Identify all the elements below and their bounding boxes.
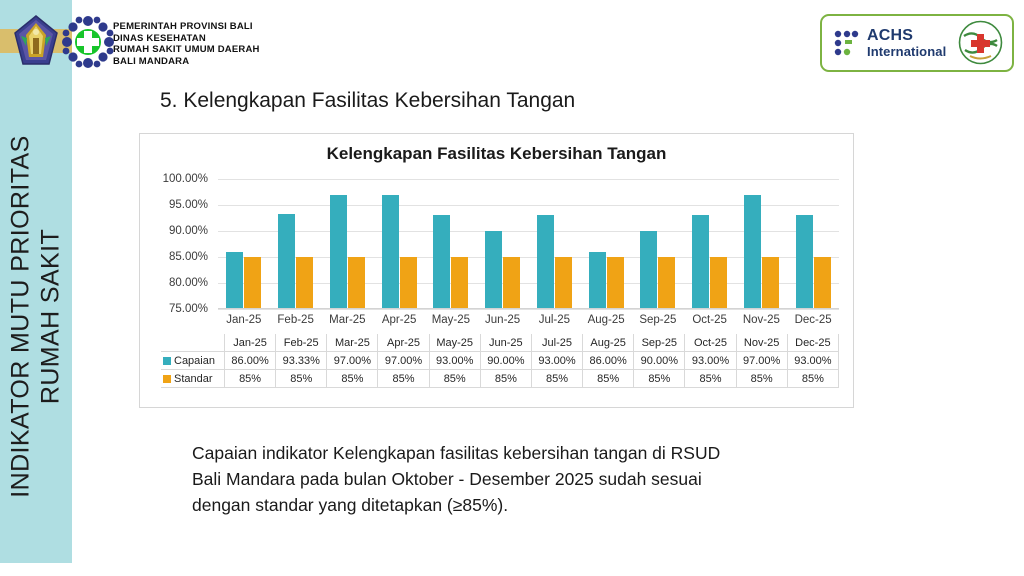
x-axis-tick: Aug-25	[580, 314, 632, 326]
bar-capaian-jun-25	[485, 231, 502, 309]
bar-capaian-dec-25	[796, 215, 813, 309]
table-cell: 86.00%	[583, 352, 634, 370]
bar-capaian-nov-25	[744, 195, 761, 309]
table-row-header-capaian: Capaian	[161, 352, 225, 370]
table-cell: 85%	[480, 370, 531, 388]
x-axis-tick: Mar-25	[322, 314, 374, 326]
bar-standar-jan-25	[244, 257, 261, 309]
bali-provincial-emblem-icon	[13, 14, 59, 68]
table-cell: 85%	[429, 370, 480, 388]
table-cell: 93.00%	[429, 352, 480, 370]
bar-standar-nov-25	[762, 257, 779, 309]
table-cell: 93.00%	[685, 352, 736, 370]
dinas-kesehatan-cross-icon	[62, 16, 114, 68]
bar-standar-mar-25	[348, 257, 365, 309]
table-row-header-standar: Standar	[161, 370, 225, 388]
table-cell: 85%	[583, 370, 634, 388]
bar-standar-may-25	[451, 257, 468, 309]
bar-standar-sep-25	[658, 257, 675, 309]
bar-group	[787, 179, 839, 309]
bar-group	[425, 179, 477, 309]
y-axis-tick: 75.00%	[169, 303, 208, 315]
table-column-header: Apr-25	[378, 334, 429, 352]
bar-group	[322, 179, 374, 309]
bar-group	[529, 179, 581, 309]
narrative-line-1: Capaian indikator Kelengkapan fasilitas …	[192, 440, 832, 466]
bar-capaian-mar-25	[330, 195, 347, 309]
narrative-line-3: dengan standar yang ditetapkan (≥85%).	[192, 492, 832, 518]
y-axis-tick: 95.00%	[169, 199, 208, 211]
legend-swatch-standar-icon	[163, 375, 171, 383]
achs-title: ACHS	[867, 28, 946, 44]
table-cell: 97.00%	[736, 352, 787, 370]
bar-capaian-jul-25	[537, 215, 554, 309]
x-axis-tick: Dec-25	[787, 314, 839, 326]
table-column-header: Jan-25	[225, 334, 276, 352]
bar-groups	[218, 179, 839, 309]
bar-standar-aug-25	[607, 257, 624, 309]
x-axis-tick: Feb-25	[270, 314, 322, 326]
achs-subtitle: International	[867, 45, 946, 58]
bar-standar-feb-25	[296, 257, 313, 309]
x-axis-labels: Jan-25Feb-25Mar-25Apr-25May-25Jun-25Jul-…	[218, 314, 839, 326]
table-cell: 85%	[225, 370, 276, 388]
bar-capaian-oct-25	[692, 215, 709, 309]
sidebar-title-line2: RUMAH SAKIT	[36, 135, 66, 497]
page-title: 5. Kelengkapan Fasilitas Kebersihan Tang…	[160, 89, 575, 113]
table-corner-cell	[161, 334, 225, 352]
accreditation-seal-icon	[958, 20, 1003, 65]
table-cell: 85%	[378, 370, 429, 388]
chart-title: Kelengkapan Fasilitas Kebersihan Tangan	[140, 144, 853, 164]
table-cell: 85%	[634, 370, 685, 388]
table-row: Standar85%85%85%85%85%85%85%85%85%85%85%…	[161, 370, 839, 388]
table-cell: 85%	[736, 370, 787, 388]
bar-standar-dec-25	[814, 257, 831, 309]
table-cell: 93.33%	[276, 352, 327, 370]
bar-standar-jul-25	[555, 257, 572, 309]
table-column-header: Oct-25	[685, 334, 736, 352]
x-axis-tick: Jun-25	[477, 314, 529, 326]
bar-standar-oct-25	[710, 257, 727, 309]
table-cell: 97.00%	[327, 352, 378, 370]
table-header-row: Jan-25Feb-25Mar-25Apr-25May-25Jun-25Jul-…	[161, 334, 839, 352]
bar-capaian-apr-25	[382, 195, 399, 309]
table-cell: 85%	[787, 370, 838, 388]
x-axis-tick: Jul-25	[529, 314, 581, 326]
table-column-header: Sep-25	[634, 334, 685, 352]
y-axis-labels: 100.00%95.00%90.00%85.00%80.00%75.00%	[140, 179, 214, 309]
bar-group	[270, 179, 322, 309]
x-axis-tick: Jan-25	[218, 314, 270, 326]
table-column-header: May-25	[429, 334, 480, 352]
bar-capaian-may-25	[433, 215, 450, 309]
bar-standar-apr-25	[400, 257, 417, 309]
table-column-header: Jun-25	[480, 334, 531, 352]
y-axis-tick: 90.00%	[169, 225, 208, 237]
y-axis-tick: 80.00%	[169, 277, 208, 289]
bar-group	[373, 179, 425, 309]
table-column-header: Dec-25	[787, 334, 838, 352]
x-axis-tick: May-25	[425, 314, 477, 326]
achs-dots-icon	[834, 30, 860, 56]
x-axis-line	[218, 308, 839, 309]
org-line-4: BALI MANDARA	[113, 56, 260, 68]
x-axis-tick: Sep-25	[632, 314, 684, 326]
bar-capaian-feb-25	[278, 214, 295, 309]
chart-data-table: Jan-25Feb-25Mar-25Apr-25May-25Jun-25Jul-…	[161, 334, 839, 388]
legend-swatch-capaian-icon	[163, 357, 171, 365]
y-axis-tick: 100.00%	[163, 173, 208, 185]
bar-group	[580, 179, 632, 309]
table-cell: 85%	[276, 370, 327, 388]
bar-capaian-aug-25	[589, 252, 606, 309]
x-axis-tick: Apr-25	[373, 314, 425, 326]
bar-group	[632, 179, 684, 309]
bar-capaian-sep-25	[640, 231, 657, 309]
gridline	[218, 309, 839, 310]
org-line-2: DINAS KESEHATAN	[113, 33, 260, 45]
narrative-text: Capaian indikator Kelengkapan fasilitas …	[192, 440, 832, 518]
achs-accreditation-badge: ACHS International	[820, 14, 1014, 72]
table-cell: 86.00%	[225, 352, 276, 370]
bar-standar-jun-25	[503, 257, 520, 309]
bar-capaian-jan-25	[226, 252, 243, 309]
bar-group	[736, 179, 788, 309]
table-cell: 93.00%	[787, 352, 838, 370]
x-axis-tick: Oct-25	[684, 314, 736, 326]
table-cell: 97.00%	[378, 352, 429, 370]
narrative-line-2: Bali Mandara pada bulan Oktober - Desemb…	[192, 466, 832, 492]
bar-group	[684, 179, 736, 309]
table-column-header: Jul-25	[531, 334, 582, 352]
sidebar-title-line1: INDIKATOR MUTU PRIORITAS	[7, 135, 37, 497]
org-line-1: PEMERINTAH PROVINSI BALI	[113, 21, 260, 33]
x-axis-tick: Nov-25	[736, 314, 788, 326]
bar-group	[477, 179, 529, 309]
table-column-header: Nov-25	[736, 334, 787, 352]
table-cell: 90.00%	[634, 352, 685, 370]
table-cell: 93.00%	[531, 352, 582, 370]
table-column-header: Mar-25	[327, 334, 378, 352]
chart-plot-area	[218, 179, 839, 309]
table-cell: 90.00%	[480, 352, 531, 370]
table-cell: 85%	[327, 370, 378, 388]
chart-container: Kelengkapan Fasilitas Kebersihan Tangan …	[139, 133, 854, 408]
bar-group	[218, 179, 270, 309]
sidebar-title: INDIKATOR MUTU PRIORITAS RUMAH SAKIT	[0, 96, 72, 536]
org-line-3: RUMAH SAKIT UMUM DAERAH	[113, 44, 260, 56]
table-column-header: Aug-25	[583, 334, 634, 352]
table-cell: 85%	[531, 370, 582, 388]
table-column-header: Feb-25	[276, 334, 327, 352]
organization-title: PEMERINTAH PROVINSI BALI DINAS KESEHATAN…	[113, 21, 260, 67]
table-row: Capaian86.00%93.33%97.00%97.00%93.00%90.…	[161, 352, 839, 370]
y-axis-tick: 85.00%	[169, 251, 208, 263]
table-cell: 85%	[685, 370, 736, 388]
